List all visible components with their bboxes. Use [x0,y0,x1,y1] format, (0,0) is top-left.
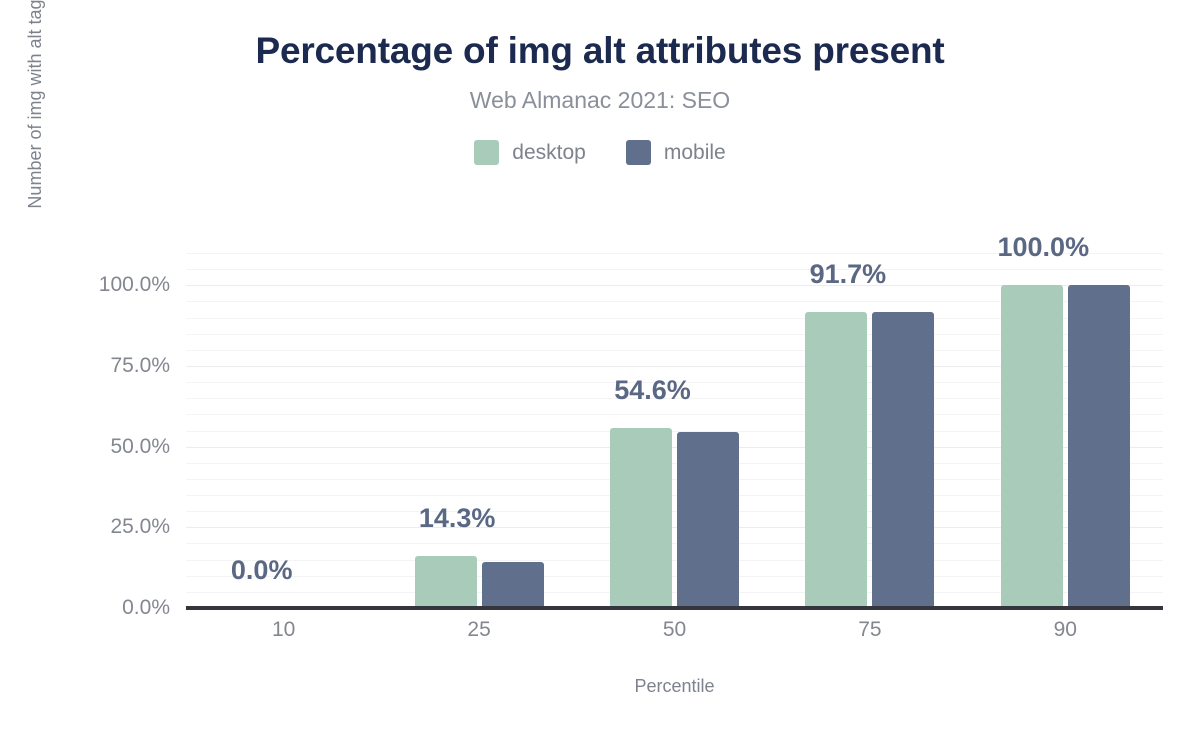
y-tick-label: 25.0% [46,515,170,539]
bar-desktop-p75[interactable] [805,312,867,608]
chart-subtitle: Web Almanac 2021: SEO [0,87,1200,114]
legend-item-mobile[interactable]: mobile [626,140,726,165]
legend-label-mobile: mobile [664,141,726,165]
legend-swatch-mobile [626,140,651,165]
legend-label-desktop: desktop [512,141,586,165]
chart-legend: desktop mobile [0,140,1200,165]
bar-mobile-p50[interactable] [677,432,739,608]
x-tick-label: 90 [990,618,1140,642]
bar-desktop-p25[interactable] [415,556,477,608]
gridline-minor [186,253,1163,254]
y-tick-label: 100.0% [46,273,170,297]
y-tick-label: 75.0% [46,354,170,378]
bar-desktop-p90[interactable] [1001,285,1063,608]
chart-title: Percentage of img alt attributes present [0,30,1200,72]
gridline-minor [186,269,1163,270]
y-tick-label: 50.0% [46,435,170,459]
x-tick-label: 10 [209,618,359,642]
x-tick-label: 25 [404,618,554,642]
x-tick-label: 75 [795,618,945,642]
bar-desktop-p50[interactable] [610,428,672,608]
legend-swatch-desktop [474,140,499,165]
x-tick-label: 50 [600,618,750,642]
plot-area [186,253,1163,608]
y-axis-title: Number of img with alt tags present [22,0,48,257]
bar-mobile-p90[interactable] [1068,285,1130,608]
chart-figure: Percentage of img alt attributes present… [0,0,1200,742]
x-axis-line [186,606,1163,610]
bar-mobile-p75[interactable] [872,312,934,608]
bar-mobile-p25[interactable] [482,562,544,608]
legend-item-desktop[interactable]: desktop [474,140,586,165]
y-tick-label: 0.0% [46,596,170,620]
x-axis-title: Percentile [186,676,1163,697]
